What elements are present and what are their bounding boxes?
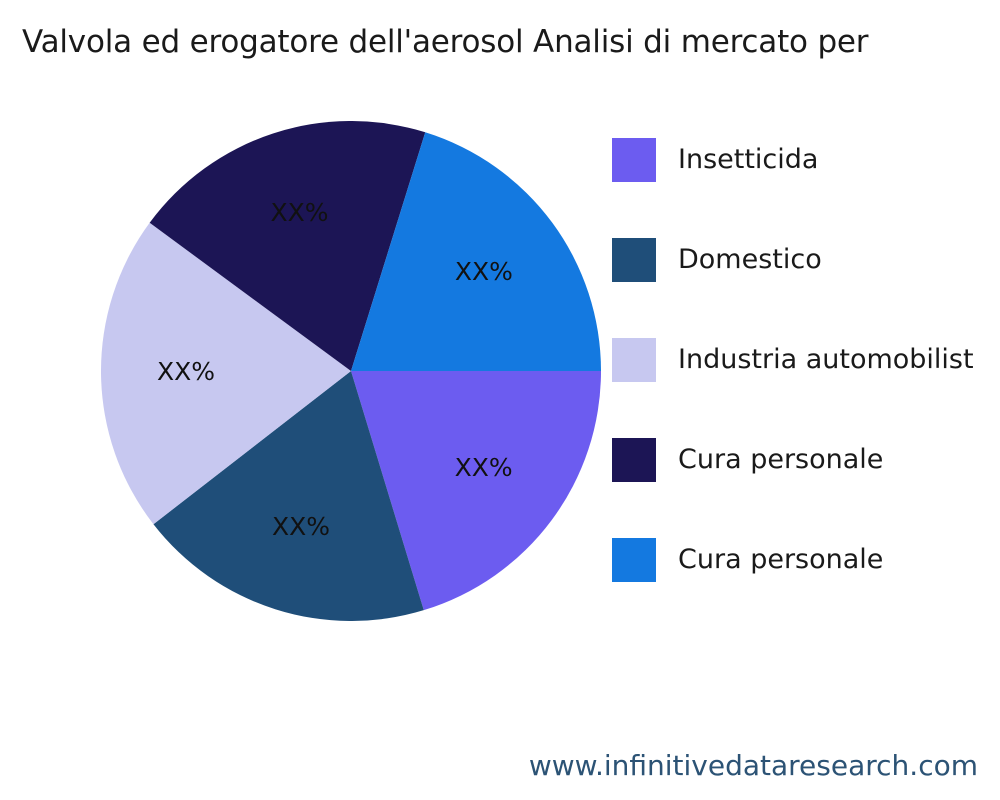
legend-item-label: Industria automobilist [678, 345, 974, 375]
pie-slice-label: XX% [270, 198, 328, 227]
pie-chart-svg: XX%XX%XX%XX%XX% [101, 121, 601, 621]
legend-item[interactable]: Cura personale [612, 410, 1000, 510]
pie-slice-label: XX% [272, 512, 330, 541]
legend-color-swatch [612, 138, 656, 182]
chart-legend: InsetticidaDomesticoIndustria automobili… [612, 110, 1000, 610]
legend-color-swatch [612, 438, 656, 482]
legend-item[interactable]: Domestico [612, 210, 1000, 310]
legend-color-swatch [612, 338, 656, 382]
legend-item[interactable]: Industria automobilist [612, 310, 1000, 410]
legend-item-label: Cura personale [678, 445, 883, 475]
footer-url[interactable]: www.infinitivedataresearch.com [529, 749, 978, 782]
legend-item-label: Cura personale [678, 545, 883, 575]
legend-item-label: Domestico [678, 245, 822, 275]
legend-item[interactable]: Cura personale [612, 510, 1000, 610]
legend-item-label: Insetticida [678, 145, 818, 175]
pie-slice-label: XX% [455, 257, 513, 286]
pie-slice-label: XX% [455, 453, 513, 482]
legend-color-swatch [612, 238, 656, 282]
legend-color-swatch [612, 538, 656, 582]
pie-chart: XX%XX%XX%XX%XX% [101, 121, 601, 621]
page-title: Valvola ed erogatore dell'aerosol Analis… [22, 22, 1000, 62]
legend-item[interactable]: Insetticida [612, 110, 1000, 210]
chart-canvas: Valvola ed erogatore dell'aerosol Analis… [0, 0, 1000, 800]
pie-slice-label: XX% [157, 357, 215, 386]
